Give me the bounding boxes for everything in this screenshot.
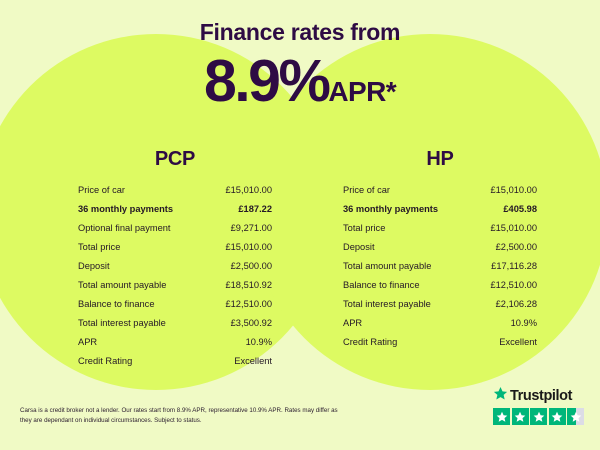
- finance-rates-banner: Finance rates from 8.9%APR* PCP Price of…: [0, 0, 600, 450]
- plan-row: Total amount payable£18,510.92: [60, 280, 290, 299]
- plan-row-value: £12,510.00: [490, 280, 537, 290]
- plan-row-label: Deposit: [343, 242, 375, 252]
- plan-row-value: £15,010.00: [225, 185, 272, 195]
- plan-row: Credit RatingExcellent: [325, 337, 555, 356]
- plan-row-value: £12,510.00: [225, 299, 272, 309]
- plan-row-value: £15,010.00: [490, 185, 537, 195]
- plan-row-label: Price of car: [343, 185, 390, 195]
- plan-row: Total price£15,010.00: [325, 223, 555, 242]
- banner-content: Finance rates from 8.9%APR* PCP Price of…: [0, 0, 600, 450]
- plan-row-label: Total price: [343, 223, 385, 233]
- plan-row: Total amount payable£17,116.28: [325, 261, 555, 280]
- plan-row-label: Balance to finance: [343, 280, 420, 290]
- headline-rate: 8.9%APR*: [0, 52, 600, 111]
- plan-row: Total interest payable£3,500.92: [60, 318, 290, 337]
- plan-row-value: Excellent: [234, 356, 272, 366]
- plan-row-label: APR: [78, 337, 97, 347]
- plan-row-value: £2,106.28: [496, 299, 537, 309]
- plan-row-value: £187.22: [238, 204, 272, 214]
- plan-row-label: Balance to finance: [78, 299, 155, 309]
- rate-suffix: APR*: [328, 76, 396, 107]
- plan-row: Total interest payable£2,106.28: [325, 299, 555, 318]
- plan-row-label: 36 monthly payments: [78, 204, 173, 214]
- plan-row-label: Total amount payable: [343, 261, 431, 271]
- plan-row-value: Excellent: [499, 337, 537, 347]
- plan-row: Price of car£15,010.00: [60, 185, 290, 204]
- plan-row-value: £15,010.00: [225, 242, 272, 252]
- plan-rows-pcp: Price of car£15,010.0036 monthly payment…: [60, 185, 290, 375]
- plan-title-pcp: PCP: [60, 148, 290, 171]
- plan-row-label: Credit Rating: [78, 356, 132, 366]
- plan-row: Total price£15,010.00: [60, 242, 290, 261]
- star-icon: [493, 408, 510, 425]
- plan-row-label: Total interest payable: [343, 299, 431, 309]
- plan-row-label: APR: [343, 318, 362, 328]
- plan-row-value: £9,271.00: [231, 223, 272, 233]
- plan-row-value: £2,500.00: [231, 261, 272, 271]
- trustpilot-badge[interactable]: Trustpilot: [493, 386, 589, 425]
- plan-column-pcp: PCP Price of car£15,010.0036 monthly pay…: [60, 148, 290, 375]
- plan-row-label: Total amount payable: [78, 280, 166, 290]
- plan-row-label: Credit Rating: [343, 337, 397, 347]
- plan-row: APR10.9%: [325, 318, 555, 337]
- plan-column-hp: HP Price of car£15,010.0036 monthly paym…: [325, 148, 555, 356]
- plan-row-value: £405.98: [503, 204, 537, 214]
- plan-row: Price of car£15,010.00: [325, 185, 555, 204]
- plan-row: 36 monthly payments£405.98: [325, 204, 555, 223]
- plan-row: Balance to finance£12,510.00: [325, 280, 555, 299]
- plan-row: Credit RatingExcellent: [60, 356, 290, 375]
- star-icon: [512, 408, 529, 425]
- trustpilot-wordmark: Trustpilot: [493, 386, 589, 406]
- trustpilot-name: Trustpilot: [510, 388, 572, 404]
- plan-title-hp: HP: [325, 148, 555, 171]
- plan-rows-hp: Price of car£15,010.0036 monthly payment…: [325, 185, 555, 356]
- plan-row: Deposit£2,500.00: [325, 242, 555, 261]
- star-half-icon: [567, 408, 584, 425]
- disclaimer-text: Carsa is a credit broker not a lender. O…: [20, 406, 350, 426]
- plan-row-label: Total price: [78, 242, 120, 252]
- plan-row: Deposit£2,500.00: [60, 261, 290, 280]
- plan-row-label: Deposit: [78, 261, 110, 271]
- star-icon: [530, 408, 547, 425]
- plan-row-label: 36 monthly payments: [343, 204, 438, 214]
- plan-row-value: 10.9%: [511, 318, 537, 328]
- plan-row-label: Total interest payable: [78, 318, 166, 328]
- plan-row-value: £17,116.28: [491, 261, 537, 271]
- rate-value: 8.9%: [204, 48, 328, 114]
- plan-row-value: 10.9%: [246, 337, 272, 347]
- trustpilot-star-icon: [493, 386, 508, 406]
- headline-title: Finance rates from: [0, 19, 600, 46]
- plan-row-value: £3,500.92: [231, 318, 272, 328]
- plan-row-value: £2,500.00: [496, 242, 537, 252]
- plan-row: Balance to finance£12,510.00: [60, 299, 290, 318]
- trustpilot-star-rating: [493, 408, 589, 425]
- star-icon: [549, 408, 566, 425]
- plan-row-value: £15,010.00: [490, 223, 537, 233]
- plan-row-value: £18,510.92: [225, 280, 272, 290]
- plan-row: APR10.9%: [60, 337, 290, 356]
- plan-row: 36 monthly payments£187.22: [60, 204, 290, 223]
- plan-row-label: Price of car: [78, 185, 125, 195]
- plan-row: Optional final payment£9,271.00: [60, 223, 290, 242]
- plan-row-label: Optional final payment: [78, 223, 171, 233]
